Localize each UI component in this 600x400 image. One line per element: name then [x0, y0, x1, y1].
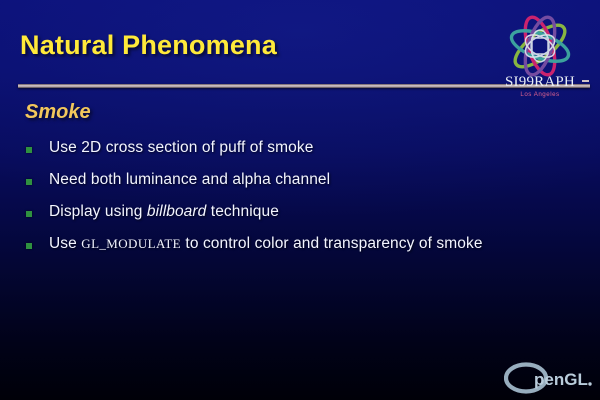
list-item: Use 2D cross section of puff of smoke	[26, 139, 586, 171]
list-item-text: Need both luminance and alpha channel	[49, 171, 330, 189]
list-item: Use GL_MODULATE to control color and tra…	[26, 235, 586, 267]
bullet-list: Use 2D cross section of puff of smoke Ne…	[26, 139, 586, 267]
list-item-text: Use GL_MODULATE to control color and tra…	[49, 235, 483, 253]
list-item: Display using billboard technique	[26, 203, 586, 235]
slide-title: Natural Phenomena	[20, 30, 277, 61]
slide-subhead: Smoke	[25, 101, 91, 124]
opengl-logo: penGL	[504, 360, 596, 396]
list-item-text: Use 2D cross section of puff of smoke	[49, 139, 313, 157]
list-item: Need both luminance and alpha channel	[26, 171, 586, 203]
siggraph-99-logo: SI99RAPH Los Angeles	[488, 8, 592, 104]
square-bullet-icon	[26, 179, 32, 185]
square-bullet-icon	[26, 147, 32, 153]
opengl-wordmark: penGL	[534, 370, 588, 389]
emphasis-text: billboard	[147, 203, 207, 220]
siggraph-wordmark: SI99RAPH	[505, 74, 575, 90]
square-bullet-icon	[26, 211, 32, 217]
code-token: GL_MODULATE	[81, 236, 181, 251]
presentation-slide: Natural Phenomena Smoke Use 2D cross sec…	[0, 0, 600, 400]
list-item-text: Display using billboard technique	[49, 203, 279, 221]
square-bullet-icon	[26, 243, 32, 249]
siggraph-location: Los Angeles	[520, 91, 559, 98]
